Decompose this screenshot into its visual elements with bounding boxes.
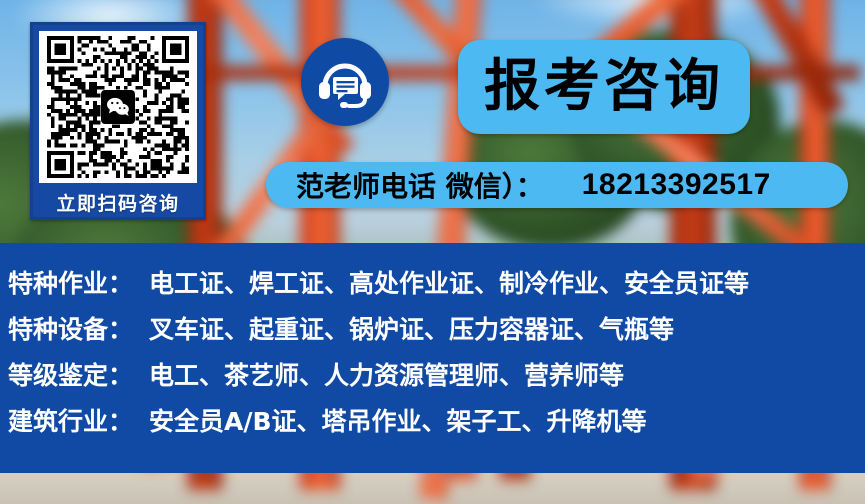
consult-title-text: 报考咨询 <box>484 59 724 115</box>
category-row-special-equipment: 特种设备： 叉车证、起重证、锅炉证、压力容器证、气瓶等 <box>0 305 865 351</box>
qr-caption: 立即扫码咨询 <box>39 183 197 221</box>
category-name: 建筑行业： <box>8 402 133 438</box>
consult-title-pill[interactable]: 报考咨询 <box>458 40 750 134</box>
contact-label: 范老师电话 微信）： <box>296 165 544 205</box>
category-items: 叉车证、起重证、锅炉证、压力容器证、气瓶等 <box>149 310 674 346</box>
category-items: 电工、茶艺师、人力资源管理师、营养师等 <box>149 356 624 392</box>
category-name: 特种设备： <box>8 310 133 346</box>
certificate-categories-panel: 特种作业： 电工证、焊工证、高处作业证、制冷作业、安全员证等 特种设备： 叉车证… <box>0 243 865 473</box>
wechat-icon <box>101 90 135 124</box>
contact-number[interactable]: 18213392517 <box>582 168 771 202</box>
qr-code-frame <box>39 31 197 183</box>
qr-card[interactable]: 立即扫码咨询 <box>30 22 206 220</box>
category-items: 安全员A/B证、塔吊作业、架子工、升降机等 <box>149 402 647 438</box>
headset-chat-icon <box>301 38 389 126</box>
qr-code[interactable] <box>47 36 189 178</box>
category-name: 特种作业： <box>8 264 133 300</box>
category-row-construction-industry: 建筑行业： 安全员A/B证、塔吊作业、架子工、升降机等 <box>0 397 865 443</box>
category-row-special-operations: 特种作业： 电工证、焊工证、高处作业证、制冷作业、安全员证等 <box>0 259 865 305</box>
category-name: 等级鉴定： <box>8 356 133 392</box>
poster-canvas: 立即扫码咨询 报考咨询 范老师电话 微信）： 18213392517 <box>0 0 865 504</box>
category-row-grade-assessment: 等级鉴定： 电工、茶艺师、人力资源管理师、营养师等 <box>0 351 865 397</box>
category-items: 电工证、焊工证、高处作业证、制冷作业、安全员证等 <box>149 264 749 300</box>
contact-phone-pill[interactable]: 范老师电话 微信）： 18213392517 <box>266 162 848 208</box>
